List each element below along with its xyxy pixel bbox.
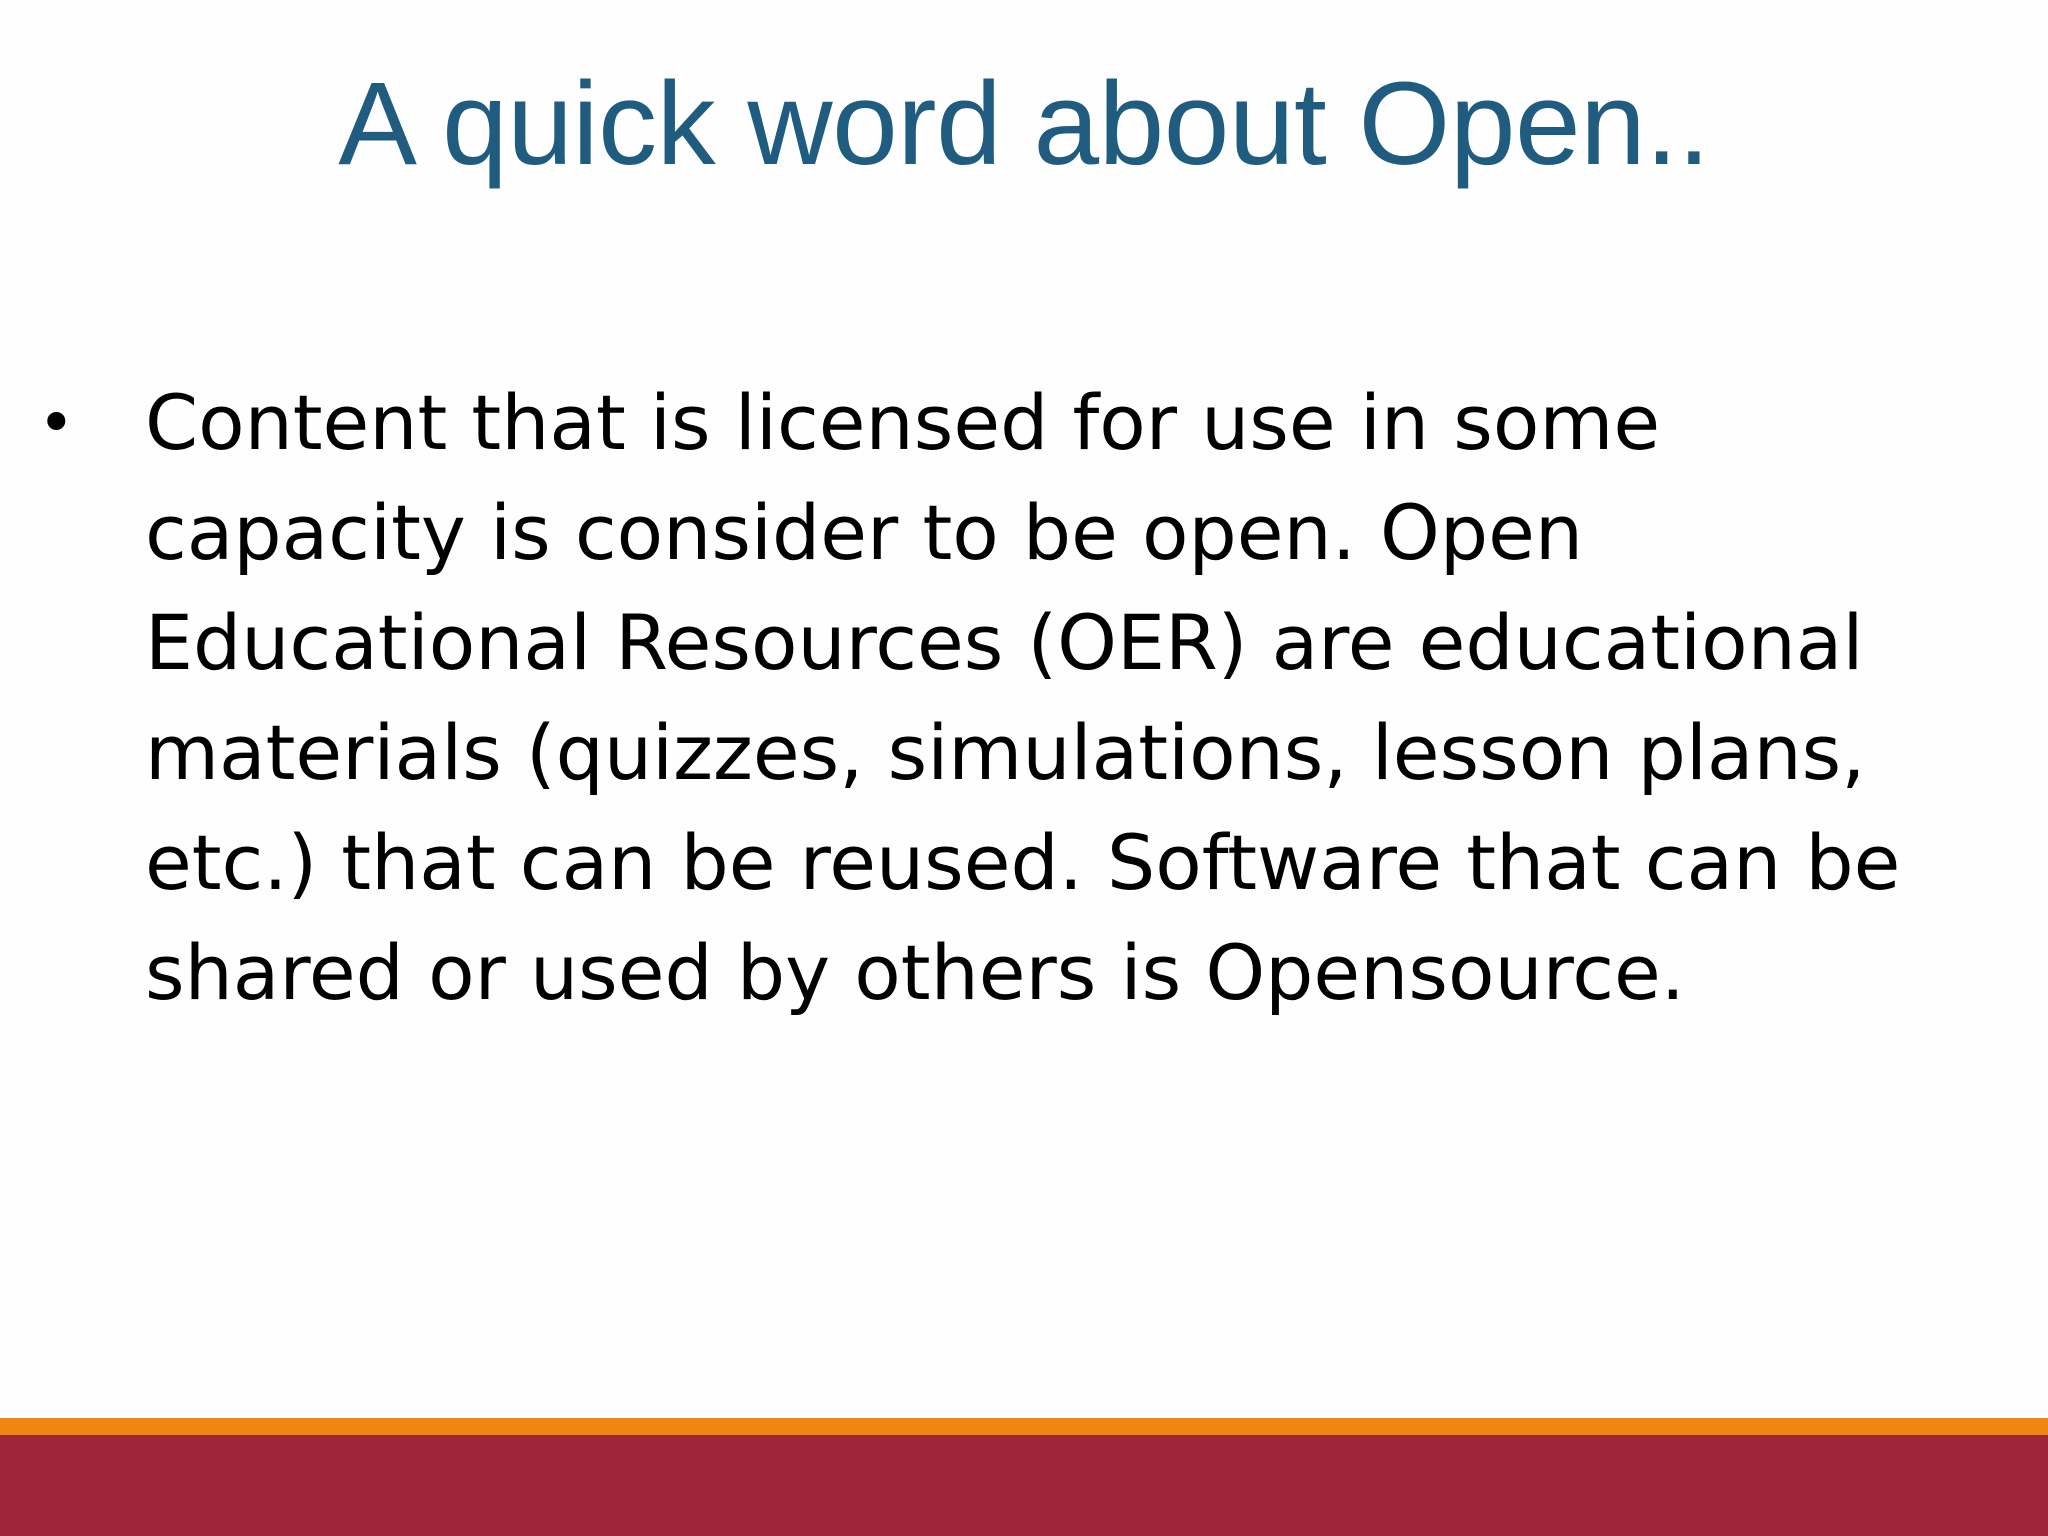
bullet-point-icon: • — [38, 368, 78, 478]
list-item: • Content that is licensed for use in so… — [0, 368, 2048, 1028]
footer-decoration — [0, 1418, 2048, 1536]
slide-title-block: A quick word about Open.. — [0, 58, 2048, 208]
bullet-item-text: Content that is licensed for use in some… — [145, 368, 1958, 1028]
bullet-list: • Content that is licensed for use in so… — [0, 368, 2048, 1028]
presentation-slide: A quick word about Open.. • Content that… — [0, 0, 2048, 1536]
slide-body-block: • Content that is licensed for use in so… — [0, 368, 2048, 1028]
red-footer-bar — [0, 1435, 2048, 1536]
orange-accent-bar — [0, 1418, 2048, 1435]
page-title: A quick word about Open.. — [0, 58, 2048, 190]
